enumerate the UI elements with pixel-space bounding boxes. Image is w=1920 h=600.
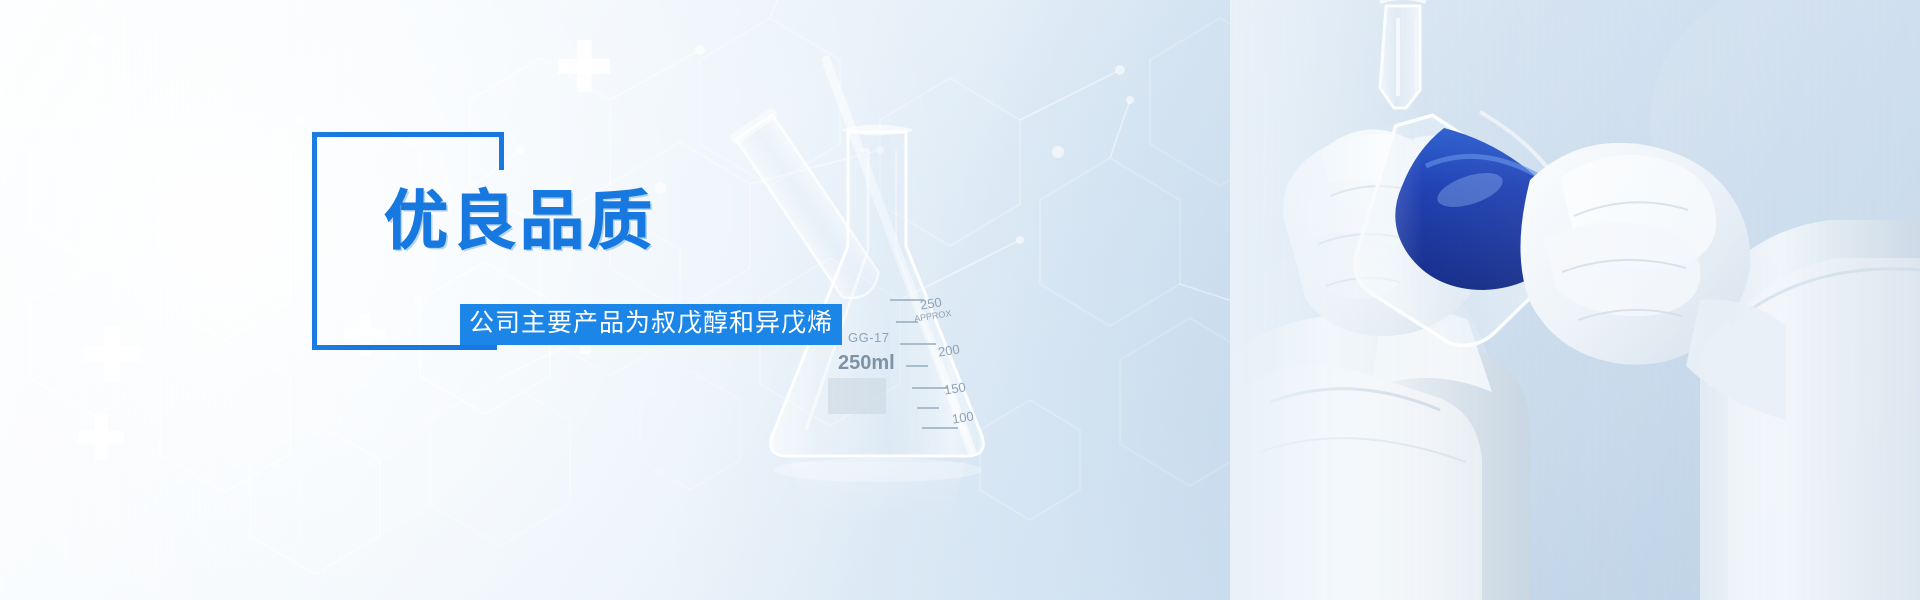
hero-banner: GG-17 250ml 250 APPROX 200 150 100	[0, 0, 1920, 600]
vignette-overlay	[0, 0, 1920, 600]
